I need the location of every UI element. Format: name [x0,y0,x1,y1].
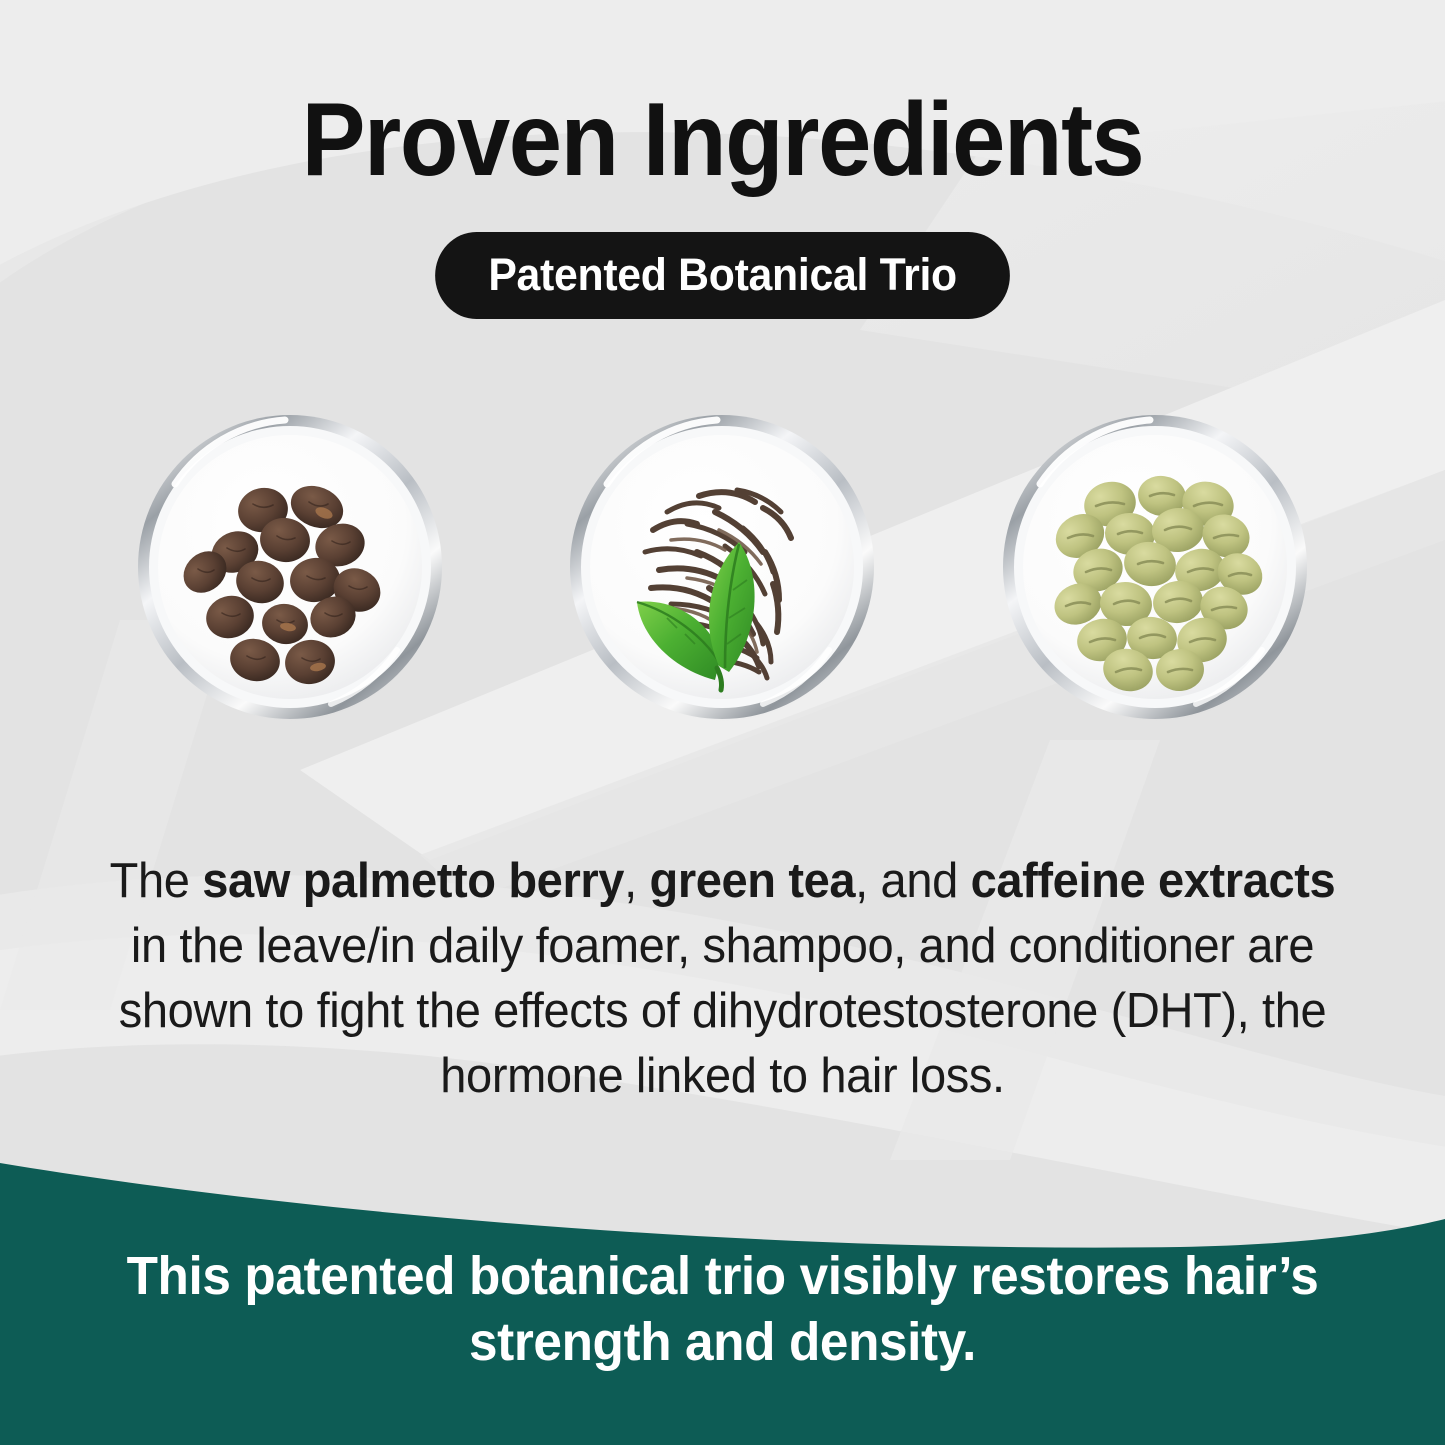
desc-part-1: The [110,854,203,908]
desc-part-4: in the leave/in daily foamer, shampoo, a… [119,919,1327,1103]
desc-part-2: , [624,854,649,908]
page-title: Proven Ingredients [58,0,1387,192]
ingredient-dish-green-tea [567,412,877,722]
ingredient-dish-caffeine [1000,412,1310,722]
desc-bold-caffeine: caffeine extracts [971,854,1336,908]
desc-bold-green-tea: green tea [649,854,855,908]
footer-banner: This patented botanical trio visibly res… [0,1135,1445,1445]
ingredient-dish-saw-palmetto-berry [135,412,445,722]
ingredient-description: The saw palmetto berry, green tea, and c… [96,849,1349,1109]
desc-bold-saw-palmetto: saw palmetto berry [202,854,624,908]
badge-container: Patented Botanical Trio [0,232,1445,319]
header: Proven Ingredients Patented Botanical Tr… [0,0,1445,319]
patented-botanical-trio-badge: Patented Botanical Trio [435,232,1010,319]
product-infographic: Proven Ingredients Patented Botanical Tr… [0,0,1445,1445]
footer-headline: This patented botanical trio visibly res… [112,1243,1333,1375]
desc-part-3: , and [855,854,970,908]
ingredient-dish-row [0,412,1445,732]
